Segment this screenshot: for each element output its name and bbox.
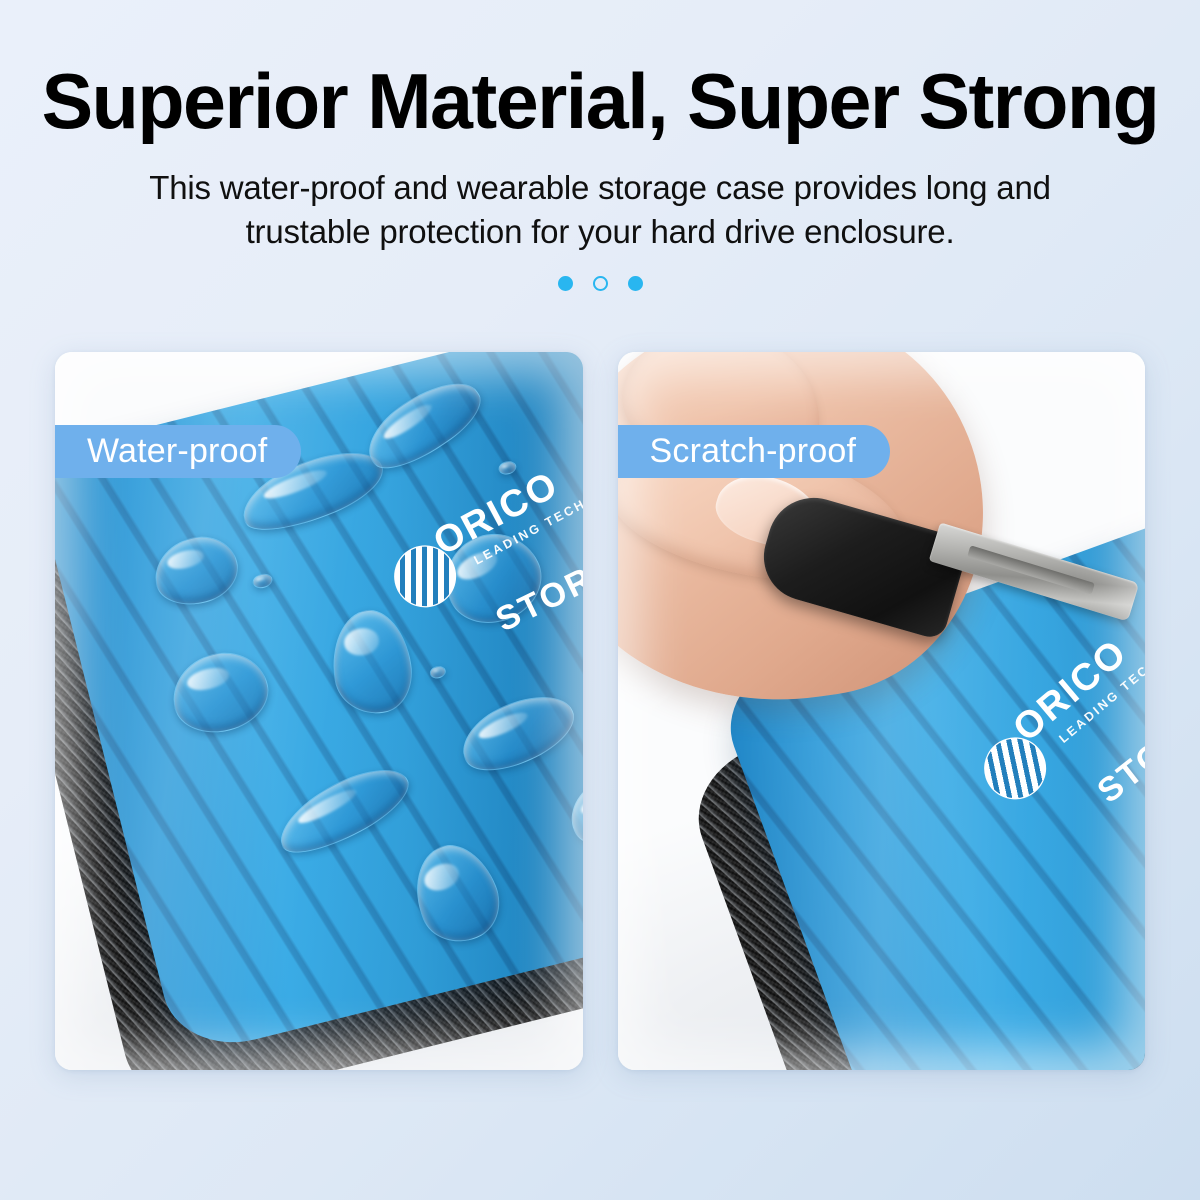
feature-card-scratch-proof[interactable]: ORICO LEADING TECHNOLOGY STORAGE Scratch… (618, 352, 1146, 1070)
page-title: Superior Material, Super Strong (6, 62, 1194, 140)
subtitle-line-2: trustable protection for your hard drive… (0, 210, 1200, 254)
carousel-dots[interactable] (0, 276, 1200, 291)
badge-water-proof: Water-proof (55, 425, 301, 478)
carousel-dot-1[interactable] (558, 276, 573, 291)
carousel-dot-3[interactable] (628, 276, 643, 291)
header: Superior Material, Super Strong This wat… (0, 0, 1200, 291)
page-subtitle: This water-proof and wearable storage ca… (0, 166, 1200, 254)
badge-scratch-proof: Scratch-proof (618, 425, 891, 478)
feature-card-group: ORICO LEADING TECHNOLOGY STORAGE Water-p… (55, 352, 1145, 1070)
carousel-dot-2[interactable] (593, 276, 608, 291)
subtitle-line-1: This water-proof and wearable storage ca… (0, 166, 1200, 210)
feature-card-water-proof[interactable]: ORICO LEADING TECHNOLOGY STORAGE Water-p… (55, 352, 583, 1070)
